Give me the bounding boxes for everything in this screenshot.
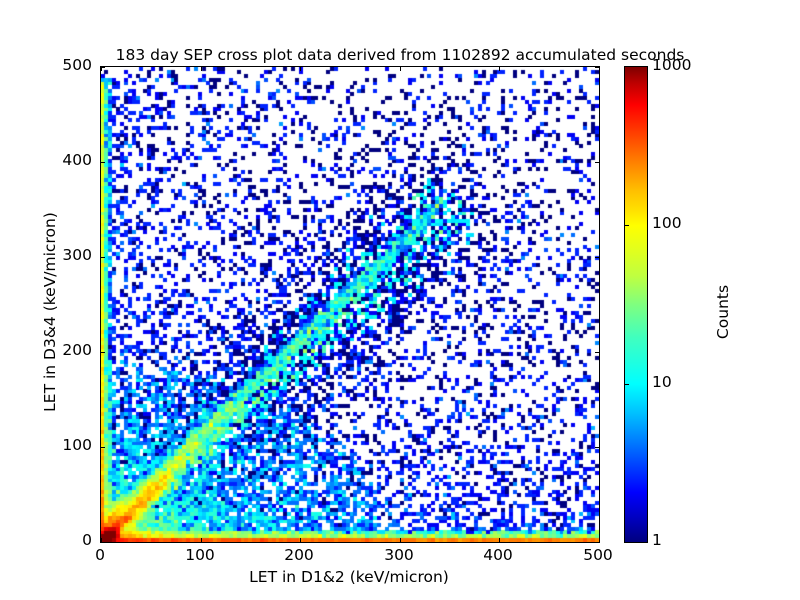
colorbar-title: Counts — [714, 162, 732, 462]
colorbar-tick-label-1000: 1000 — [652, 56, 691, 74]
y-tick-label-500: 500 — [28, 56, 92, 74]
y-tick-400 — [595, 162, 599, 163]
colorbar — [624, 66, 648, 543]
plot-axes — [100, 66, 600, 543]
colorbar-tick-label-100: 100 — [652, 214, 682, 232]
x-tick-300 — [400, 538, 401, 542]
colorbar-tick-label-1: 1 — [652, 531, 662, 549]
x-tick-500 — [599, 538, 600, 542]
y-tick-label-100: 100 — [28, 436, 92, 454]
colorbar-tick-label-10: 10 — [652, 373, 672, 391]
x-tick-400 — [499, 538, 500, 542]
x-tick-label-400: 400 — [463, 546, 533, 564]
y-tick-label-200: 200 — [28, 341, 92, 359]
y-tick-100 — [101, 447, 105, 448]
y-tick-label-400: 400 — [28, 151, 92, 169]
y-tick-0 — [101, 542, 105, 543]
y-tick-300 — [595, 257, 599, 258]
y-tick-200 — [595, 352, 599, 353]
y-tick-200 — [101, 352, 105, 353]
x-tick-label-100: 100 — [165, 546, 235, 564]
x-tick-200 — [300, 67, 301, 71]
x-tick-500 — [599, 67, 600, 71]
y-tick-label-0: 0 — [28, 531, 92, 549]
colorbar-tick-10 — [625, 384, 629, 385]
x-tick-label-200: 200 — [264, 546, 334, 564]
x-tick-100 — [201, 538, 202, 542]
x-tick-100 — [201, 67, 202, 71]
y-axis-title: LET in D3&4 (keV/micron) — [41, 162, 59, 462]
x-axis-title: LET in D1&2 (keV/micron) — [100, 568, 598, 586]
y-tick-label-300: 300 — [28, 246, 92, 264]
y-tick-500 — [101, 67, 105, 68]
x-tick-label-500: 500 — [563, 546, 633, 564]
x-tick-300 — [400, 67, 401, 71]
x-tick-label-300: 300 — [364, 546, 434, 564]
y-tick-400 — [101, 162, 105, 163]
colorbar-tick-100 — [625, 225, 629, 226]
y-tick-100 — [595, 447, 599, 448]
heatmap-canvas — [101, 67, 599, 542]
y-tick-500 — [595, 67, 599, 68]
heatmap-plot-region — [101, 67, 599, 542]
x-tick-400 — [499, 67, 500, 71]
figure-canvas: 183 day SEP cross plot data derived from… — [0, 0, 800, 600]
y-tick-0 — [595, 542, 599, 543]
y-tick-300 — [101, 257, 105, 258]
x-tick-200 — [300, 538, 301, 542]
